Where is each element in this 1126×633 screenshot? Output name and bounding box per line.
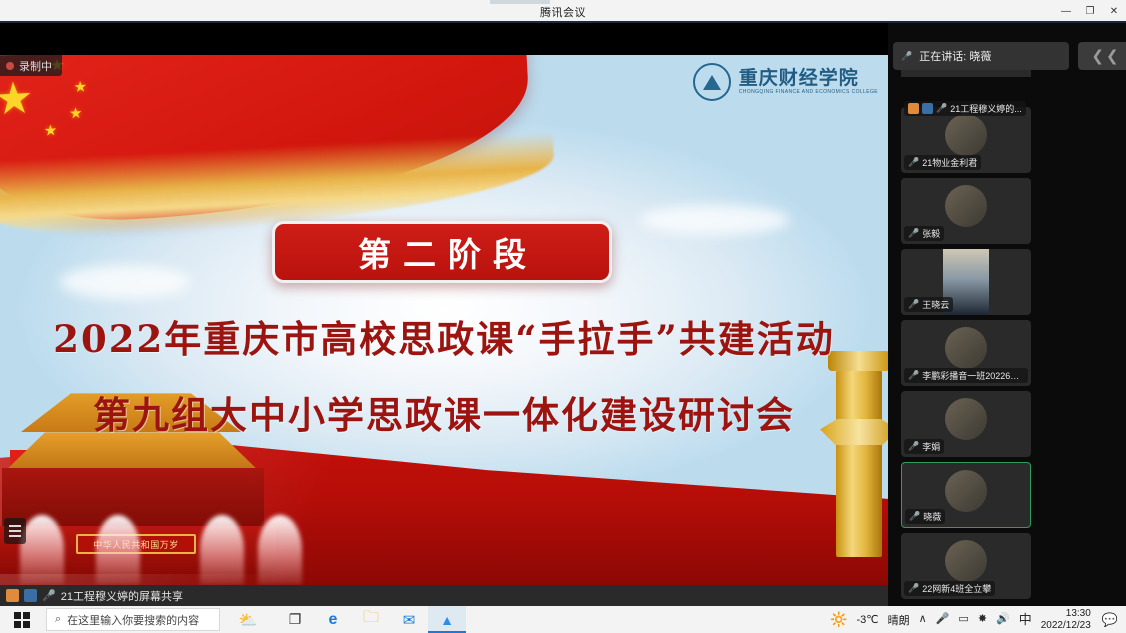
fountain-graphic (200, 515, 244, 585)
system-tray: 🔆 -3℃ 晴朗 ∧ 🎤 ▭ ✸ 🔊 中 13:30 2022/12/23 💬 (830, 606, 1126, 633)
fountain-graphic (258, 515, 302, 585)
chevron-double-icon: ❮ (1091, 49, 1104, 64)
participant-namebar: 🎤 晓薇 (905, 509, 945, 524)
window-controls: — ❐ ✕ (1054, 0, 1126, 23)
share-status-bar: 🎤 21工程穆义婷的屏幕共享 (0, 585, 888, 606)
volume-icon[interactable]: 🔊 (996, 614, 1010, 625)
meeting-stage: ★ ★ ★ ★ ★ 重庆财经学院 CHONGQING FINANCE AND E… (0, 23, 1126, 606)
university-logo: 重庆财经学院 CHONGQING FINANCE AND ECONOMICS C… (693, 63, 878, 101)
recording-label: 录制中 (19, 58, 52, 74)
microphone-icon[interactable]: 🎤 (936, 614, 950, 625)
mic-icon: 🎤 (908, 229, 919, 238)
rail-collapse-button[interactable]: ❮ ❮ (1078, 42, 1126, 70)
active-speaker-banner: 🎤 正在讲话: 晓薇 (893, 42, 1069, 70)
participant-tile[interactable]: 🎤 22网新4班全立攀 (901, 533, 1031, 599)
windows-logo-icon (14, 612, 30, 628)
mic-muted-icon: 🎤 (936, 104, 947, 113)
monitor-icon (24, 589, 37, 602)
participant-name: 21工程穆义婷的... (950, 102, 1022, 115)
task-view-icon[interactable]: ❐ (276, 606, 314, 633)
participant-tile-active[interactable]: 🎤 晓薇 (901, 462, 1031, 528)
edge-icon[interactable]: e (314, 606, 352, 633)
participant-name: 晓薇 (923, 510, 941, 523)
avatar (945, 398, 987, 440)
participant-namebar: 🎤 李鹏彩播音一班2022650... (904, 368, 1028, 383)
mic-icon: 🎤 (908, 584, 919, 593)
flag-star-large: ★ (0, 76, 35, 122)
close-button[interactable]: ✕ (1102, 0, 1126, 23)
participant-namebar: 🎤 李娟 (904, 439, 944, 454)
hamburger-icon (9, 525, 21, 527)
participant-namebar: 🎤 21物业金利君 (904, 155, 981, 170)
taskbar-clock[interactable]: 13:30 2022/12/23 (1041, 608, 1091, 631)
avatar (945, 327, 987, 369)
mic-icon: 🎤 (909, 512, 920, 521)
weather-temperature: -3℃ (857, 613, 879, 626)
participant-name: 张毅 (922, 227, 940, 240)
university-emblem-icon (693, 63, 731, 101)
slide-phase-text: 第二阶段 (346, 228, 538, 276)
avatar (945, 114, 987, 156)
mic-muted-icon: 🎤 (901, 52, 912, 61)
participant-tile[interactable]: 🎤 21物业金利君 (901, 107, 1031, 173)
participant-name: 王晓云 (922, 298, 949, 311)
recording-indicator: 录制中 (0, 55, 62, 76)
search-placeholder: 在这里输入你要搜索的内容 (67, 612, 199, 628)
participant-namebar: 🎤 张毅 (904, 226, 944, 241)
monitor-icon (922, 103, 933, 114)
participant-tile[interactable]: 🎤 张毅 (901, 178, 1031, 244)
file-explorer-icon[interactable]: 🗀 (352, 606, 390, 633)
taskbar-search-box[interactable]: ⌕ 在这里输入你要搜索的内容 (46, 608, 220, 631)
participant-name: 李娟 (922, 440, 940, 453)
share-status-text: 21工程穆义婷的屏幕共享 (61, 588, 183, 604)
mic-icon: 🎤 (908, 442, 919, 451)
tencent-meeting-icon[interactable]: ▲ (428, 606, 466, 633)
university-name-cn: 重庆财经学院 (739, 68, 878, 90)
recording-dot-icon (6, 62, 14, 70)
mail-icon[interactable]: ✉ (390, 606, 428, 633)
participant-rail[interactable]: 🎤 正在讲话: 晓薇 ❮ ❮ 🎤 21工程穆义婷的... 🎤 21物业金利君 (888, 23, 1126, 606)
participant-namebar: 🎤 22网新4班全立攀 (904, 581, 995, 596)
mic-icon: 🎤 (908, 158, 919, 167)
avatar (945, 540, 987, 582)
battery-icon[interactable]: ▭ (958, 614, 968, 625)
participant-namebar: 🎤 王晓云 (904, 297, 953, 312)
clock-time: 13:30 (1066, 608, 1091, 620)
participant-tile[interactable]: 🎤 李娟 (901, 391, 1031, 457)
weather-description: 晴朗 (888, 612, 910, 628)
maximize-button[interactable]: ❐ (1078, 0, 1102, 23)
presentation-slide: ★ ★ ★ ★ ★ 重庆财经学院 CHONGQING FINANCE AND E… (0, 55, 888, 585)
window-title: 腾讯会议 (540, 4, 586, 20)
mic-icon: 🎤 (908, 300, 919, 309)
avatar (945, 470, 987, 512)
slide-headline-secondary: 第九组大中小学思政课一体化建设研讨会 (0, 385, 888, 439)
clock-date: 2022/12/23 (1041, 620, 1091, 632)
slide-phase-banner: 第二阶段 (272, 221, 612, 283)
search-icon: ⌕ (55, 613, 61, 626)
shared-screen-area[interactable]: ★ ★ ★ ★ ★ 重庆财经学院 CHONGQING FINANCE AND E… (0, 55, 888, 606)
participant-name: 李鹏彩播音一班2022650... (922, 369, 1024, 382)
tencent-meeting-window: 腾讯会议 — ❐ ✕ ★ ★ ★ ★ ★ (0, 0, 1126, 633)
ime-indicator[interactable]: 中 (1019, 613, 1032, 626)
action-center-icon[interactable]: 💬 (1100, 612, 1118, 628)
mic-muted-icon: 🎤 (42, 589, 56, 602)
cloud-shape (60, 265, 190, 299)
participant-name: 21物业金利君 (922, 156, 977, 169)
weather-widget-icon[interactable]: ⛅ (220, 606, 276, 633)
person-icon (908, 103, 919, 114)
fountain-graphic (96, 515, 140, 585)
participant-name: 22网新4班全立攀 (922, 582, 991, 595)
flag-star-small: ★ (43, 123, 57, 139)
weather-sun-icon: 🔆 (830, 611, 847, 628)
avatar (945, 185, 987, 227)
show-hidden-icons-button[interactable]: ∧ (919, 614, 927, 625)
participant-first-tile-label: 🎤 21工程穆义婷的... (904, 101, 1026, 116)
mic-icon: 🎤 (908, 371, 919, 380)
active-speaker-name: 正在讲话: 晓薇 (919, 48, 991, 64)
window-titlebar: 腾讯会议 — ❐ ✕ (0, 0, 1126, 23)
network-icon[interactable]: ✸ (978, 614, 987, 625)
fountain-graphic (20, 515, 64, 585)
start-button[interactable] (0, 606, 44, 633)
person-icon (6, 589, 19, 602)
share-menu-button[interactable] (4, 518, 26, 544)
slide-headline-primary: 2022年重庆市高校思政课“手拉手”共建活动 (0, 309, 888, 363)
university-name-en: CHONGQING FINANCE AND ECONOMICS COLLEGE (739, 90, 878, 96)
minimize-button[interactable]: — (1054, 0, 1078, 23)
participant-tile[interactable]: 🎤 李鹏彩播音一班2022650... (901, 320, 1031, 386)
participant-tile[interactable]: 🎤 王晓云 (901, 249, 1031, 315)
flag-star-small: ★ (73, 79, 87, 95)
flag-star-small: ★ (69, 106, 83, 122)
windows-taskbar: ⌕ 在这里输入你要搜索的内容 ⛅ ❐ e 🗀 ✉ ▲ 🔆 -3℃ 晴朗 ∧ 🎤 … (0, 606, 1126, 633)
titlebar-tab-stub (490, 0, 550, 4)
cloud-shape (640, 205, 790, 235)
